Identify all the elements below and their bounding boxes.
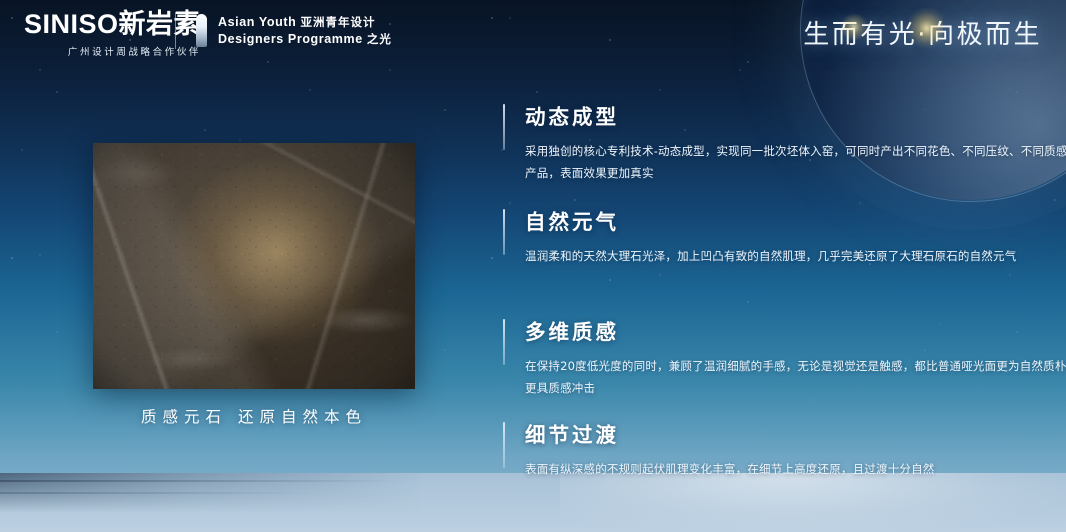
slide-slogan: 生而有光·向极而生: [803, 14, 1042, 51]
feature-title: 多维质感: [525, 315, 1066, 345]
feature-item-3: 多维质感 在保持20度低光度的同时，兼顾了温润细腻的手感，无论是视觉还是触感，都…: [503, 315, 1066, 400]
accent-bar: [503, 209, 505, 255]
partner-line1-en: Asian Youth: [218, 15, 296, 29]
feature-item-4: 细节过渡 表面有纵深感的不规则起伏肌理变化丰富，在细节上高度还原，且过渡十分自然: [503, 418, 1066, 480]
slide-canvas: SINISO新岩素 广州设计周战略合作伙伴 Asian Youth 亚洲青年设计…: [0, 0, 1066, 532]
feature-item-1: 动态成型 采用独创的核心专利技术-动态成型，实现同一批次坯体入窑，可同时产出不同…: [503, 100, 1066, 185]
feature-title: 自然元气: [525, 205, 1066, 235]
image-caption: 质感元石 还原自然本色: [93, 405, 415, 427]
partner-line-1: Asian Youth 亚洲青年设计: [218, 14, 392, 31]
feature-body: 表面有纵深感的不规则起伏肌理变化丰富，在细节上高度还原，且过渡十分自然: [525, 458, 1066, 480]
feature-title: 动态成型: [525, 100, 1066, 130]
water-light-reflection: [560, 473, 1066, 532]
partner-line2-cn: 之光: [367, 34, 392, 46]
partner-line2-en: Designers Programme: [218, 32, 363, 46]
accent-bar: [503, 319, 505, 365]
feature-title: 细节过渡: [525, 418, 1066, 448]
partner-line-2: Designers Programme 之光: [218, 31, 392, 48]
pillar-icon: [196, 14, 207, 47]
partner-logo-text: Asian Youth 亚洲青年设计 Designers Programme 之…: [218, 14, 392, 47]
partner-logo-block: Asian Youth 亚洲青年设计 Designers Programme 之…: [196, 14, 392, 47]
feature-body: 采用独创的核心专利技术-动态成型，实现同一批次坯体入窑，可同时产出不同花色、不同…: [525, 140, 1066, 185]
marble-speckle-overlay: [93, 143, 415, 389]
marble-texture-image: [93, 143, 415, 389]
feature-body: 温润柔和的天然大理石光泽，加上凹凸有致的自然肌理，几乎完美还原了大理石原石的自然…: [525, 245, 1066, 267]
accent-bar: [503, 104, 505, 150]
water-ripple-streaks: [0, 474, 520, 508]
partner-line1-cn: 亚洲青年设计: [300, 17, 375, 29]
accent-bar: [503, 422, 505, 468]
slide-header: SINISO新岩素 广州设计周战略合作伙伴 Asian Youth 亚洲青年设计…: [0, 0, 1066, 62]
feature-body: 在保持20度低光度的同时，兼顾了温润细腻的手感，无论是视觉还是触感，都比普通哑光…: [525, 355, 1066, 400]
header-divider: [175, 12, 176, 49]
feature-item-2: 自然元气 温润柔和的天然大理石光泽，加上凹凸有致的自然肌理，几乎完美还原了大理石…: [503, 205, 1066, 267]
